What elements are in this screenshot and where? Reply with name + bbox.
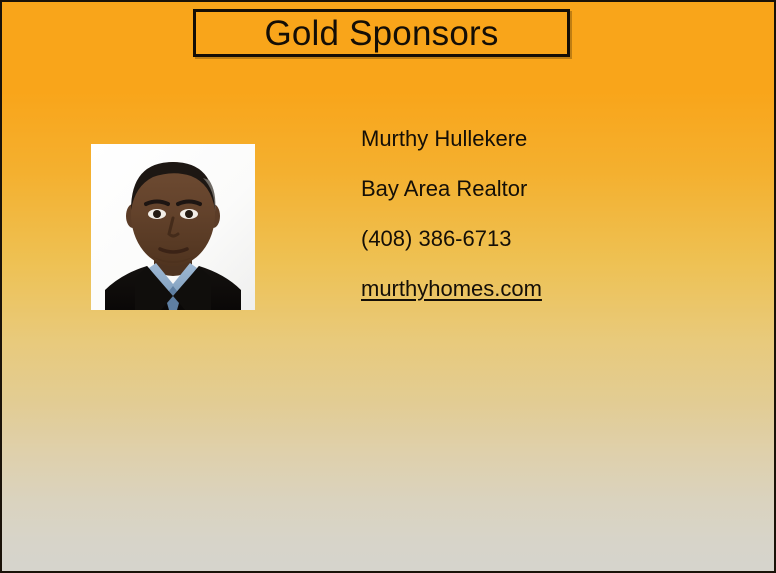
sponsor-website-row: murthyhomes.com xyxy=(361,278,741,300)
gold-sponsors-slide: Gold Sponsors xyxy=(0,0,776,573)
sponsor-website-link[interactable]: murthyhomes.com xyxy=(361,276,542,301)
sponsor-details: Murthy Hullekere Bay Area Realtor (408) … xyxy=(361,128,741,300)
page-title: Gold Sponsors xyxy=(264,16,498,51)
sponsor-photo xyxy=(91,144,255,310)
sponsor-portrait-image xyxy=(91,144,255,310)
sponsor-phone: (408) 386-6713 xyxy=(361,228,741,250)
slide-title-box: Gold Sponsors xyxy=(193,9,570,57)
sponsor-role: Bay Area Realtor xyxy=(361,178,741,200)
sponsor-name: Murthy Hullekere xyxy=(361,128,741,150)
